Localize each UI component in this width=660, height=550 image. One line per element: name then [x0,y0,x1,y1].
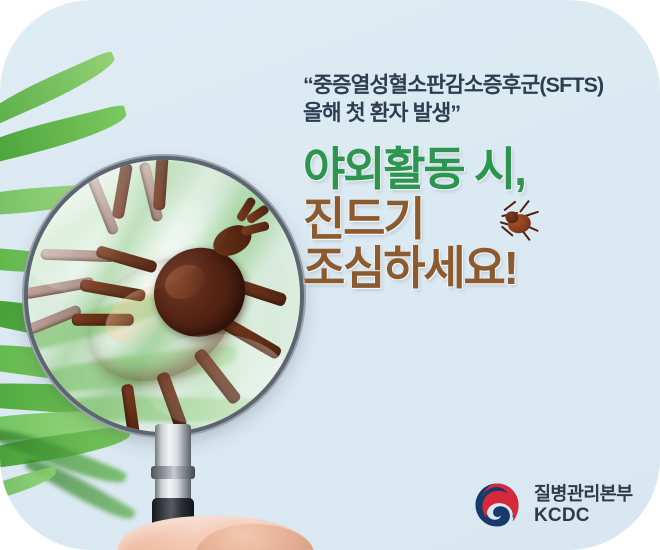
tick-icon [493,198,543,245]
kcdc-name-en: KCDC [534,505,633,527]
poster-subtitle: “중증열성혈소판감소증후군(SFTS) 올해 첫 환자 발생” [303,72,653,128]
poster-text-block: “중증열성혈소판감소증후군(SFTS) 올해 첫 환자 발생” 야외활동 시, … [303,72,653,294]
poster-headline: 야외활동 시, 진드기 조심하세요! [303,145,653,294]
tick-insect [30,166,298,430]
headline-line-2-wrapper: 진드기 [303,195,653,245]
subtitle-line-1: “중증열성혈소판감소증후군(SFTS) [303,73,603,97]
subtitle-line-2: 올해 첫 환자 발생” [303,100,653,128]
headline-line-2: 진드기 [303,193,423,245]
kcdc-logo-text: 질병관리본부 KCDC [534,483,633,527]
magnifier-lens [28,160,300,432]
kcdc-name-kr: 질병관리본부 [534,483,633,505]
poster-canvas: “중증열성혈소판감소증후군(SFTS) 올해 첫 환자 발생” 야외활동 시, … [0,0,660,550]
kcdc-emblem-icon [473,481,521,529]
headline-line-1: 야외활동 시, [303,145,653,195]
headline-line-3: 조심하세요! [303,244,653,294]
kcdc-logo: 질병관리본부 KCDC [473,481,633,529]
magnifier-collar [151,466,195,479]
